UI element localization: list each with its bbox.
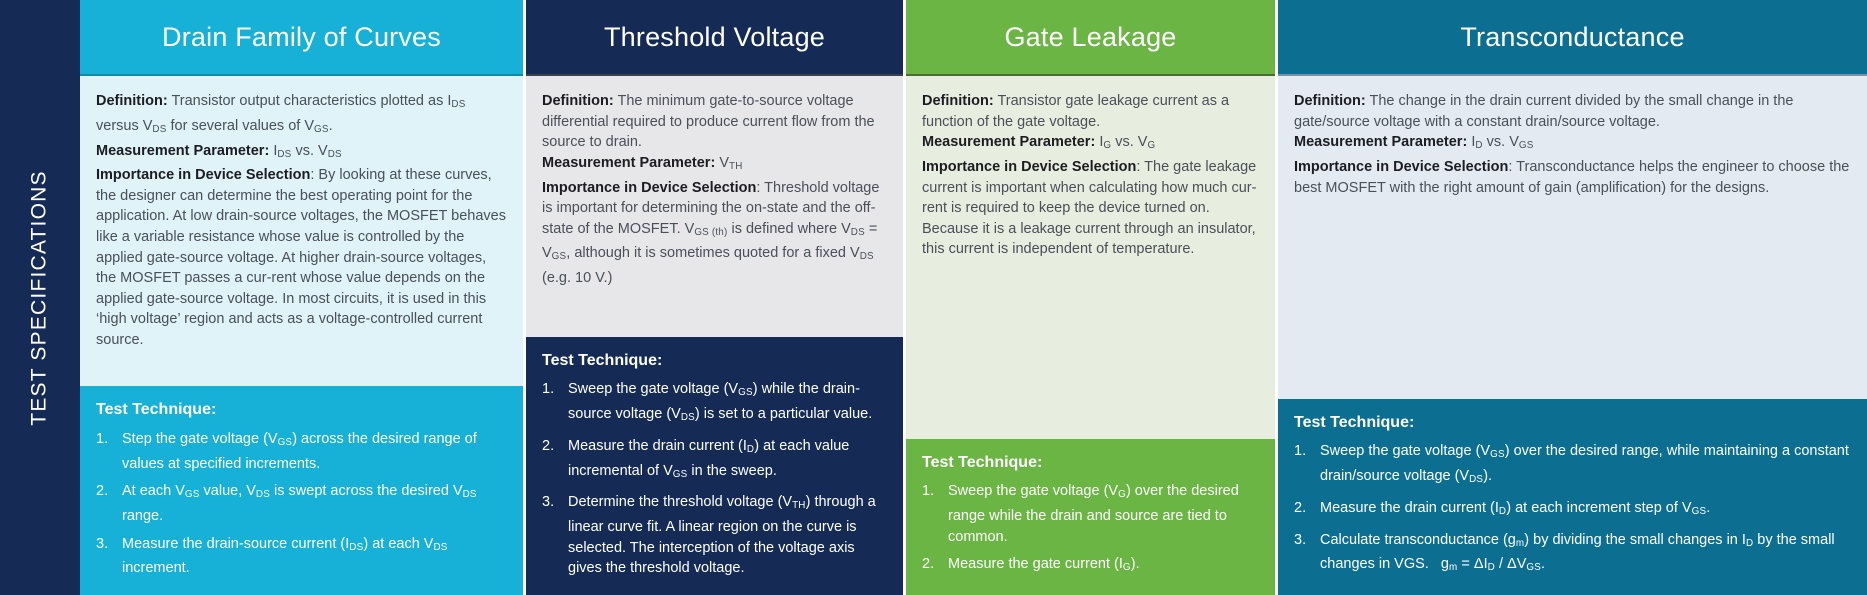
measurement-label-2: Measurement Parameter: — [542, 155, 715, 171]
importance-paragraph-3: Importance in Device Selection: The gate… — [922, 157, 1259, 260]
definition-paragraph-2: Definition: The minimum gate-to-source v… — [542, 91, 887, 153]
step-text: Measure the drain current (ID) at each i… — [1320, 498, 1851, 523]
importance-paragraph-1: Importance in Device Selection: By looki… — [96, 165, 507, 350]
column-definition-3: Definition: Transistor gate leakage curr… — [906, 74, 1275, 272]
step-number: 1. — [1294, 441, 1320, 491]
technique-title-3: Test Technique: — [922, 453, 1259, 474]
step-number: 2. — [1294, 498, 1320, 523]
step-text: Measure the gate current (IG). — [948, 554, 1259, 579]
column-technique-4: Test Technique: 1. Sweep the gate voltag… — [1278, 399, 1867, 595]
definition-text-4: The change in the drain current divided … — [1294, 93, 1793, 130]
technique-title-2: Test Technique: — [542, 351, 887, 372]
test-specifications-table: TEST SPECIFICATIONS Drain Family of Curv… — [0, 0, 1867, 595]
measurement-label-1: Measurement Parameter: — [96, 143, 269, 159]
step-number: 2. — [542, 436, 568, 486]
column-definition-4: Definition: The change in the drain curr… — [1278, 74, 1867, 210]
column-definition-1: Definition: Transistor output characteri… — [80, 74, 523, 363]
column-definition-2: Definition: The minimum gate-to-source v… — [526, 74, 903, 301]
technique-step: 1. Sweep the gate voltage (VG) over the … — [922, 481, 1259, 547]
column-transconductance: Transconductance Definition: The change … — [1278, 0, 1867, 595]
columns-container: Drain Family of Curves Definition: Trans… — [80, 0, 1867, 595]
step-text: Sweep the gate voltage (VG) over the des… — [948, 481, 1259, 547]
technique-list-3: 1. Sweep the gate voltage (VG) over the … — [922, 481, 1259, 579]
column-title-4: Transconductance — [1278, 0, 1867, 74]
column-technique-1: Test Technique: 1. Step the gate voltage… — [80, 386, 523, 595]
definition-label-1: Definition: — [96, 93, 168, 109]
technique-step: 1. Step the gate voltage (VGS) across th… — [96, 429, 507, 474]
technique-step: 2. Measure the drain current (ID) at eac… — [1294, 498, 1851, 523]
definition-label-4: Definition: — [1294, 93, 1366, 109]
measurement-paragraph-1: Measurement Parameter: IDS vs. VDS — [96, 141, 507, 166]
importance-paragraph-2: Importance in Device Selection: Threshol… — [542, 178, 887, 289]
technique-step: 1. Sweep the gate voltage (VGS) while th… — [542, 379, 887, 429]
column-spacer-2 — [526, 301, 903, 337]
technique-step: 2. Measure the gate current (IG). — [922, 554, 1259, 579]
step-text: Step the gate voltage (VGS) across the d… — [122, 429, 507, 474]
importance-label-4: Importance in Device Selection — [1294, 159, 1508, 175]
column-spacer-1 — [80, 363, 523, 387]
step-number: 3. — [96, 534, 122, 579]
step-text: At each VGS value, VDS is swept across t… — [122, 481, 507, 526]
importance-label-3: Importance in Device Selection — [922, 159, 1136, 175]
measurement-paragraph-4: Measurement Parameter: ID vs. VGS — [1294, 132, 1851, 157]
technique-title-1: Test Technique: — [96, 400, 507, 421]
column-spacer-3 — [906, 272, 1275, 439]
technique-step: 3. Measure the drain-source current (IDS… — [96, 534, 507, 579]
technique-step: 2. At each VGS value, VDS is swept acros… — [96, 481, 507, 526]
step-number: 1. — [96, 429, 122, 474]
step-number: 3. — [1294, 530, 1320, 580]
sidebar-vertical-label: TEST SPECIFICATIONS — [28, 170, 52, 425]
step-text: Determine the threshold voltage (VTH) th… — [568, 492, 887, 579]
technique-step: 1. Sweep the gate voltage (VGS) over the… — [1294, 441, 1851, 491]
measurement-value-2: VTH — [719, 155, 742, 171]
column-spacer-4 — [1278, 210, 1867, 399]
definition-paragraph-4: Definition: The change in the drain curr… — [1294, 91, 1851, 132]
measurement-paragraph-2: Measurement Parameter: VTH — [542, 153, 887, 178]
column-technique-3: Test Technique: 1. Sweep the gate voltag… — [906, 439, 1275, 595]
column-title-1: Drain Family of Curves — [80, 0, 523, 74]
definition-paragraph-3: Definition: Transistor gate leakage curr… — [922, 91, 1259, 132]
technique-title-4: Test Technique: — [1294, 413, 1851, 434]
step-text: Measure the drain current (ID) at each v… — [568, 436, 887, 486]
importance-text-1: By looking at these curves, the designer… — [96, 167, 506, 348]
measurement-paragraph-3: Measurement Parameter: IG vs. VG — [922, 132, 1259, 157]
step-text: Calculate transconductance (gm) by divid… — [1320, 530, 1851, 580]
technique-list-4: 1. Sweep the gate voltage (VGS) over the… — [1294, 441, 1851, 579]
column-gate-leakage: Gate Leakage Definition: Transistor gate… — [906, 0, 1278, 595]
step-number: 2. — [922, 554, 948, 579]
importance-label-2: Importance in Device Selection — [542, 180, 756, 196]
technique-list-2: 1. Sweep the gate voltage (VGS) while th… — [542, 379, 887, 579]
column-title-2: Threshold Voltage — [526, 0, 903, 74]
column-title-3: Gate Leakage — [906, 0, 1275, 74]
definition-label-3: Definition: — [922, 93, 994, 109]
technique-step: 3. Calculate transconductance (gm) by di… — [1294, 530, 1851, 580]
measurement-value-1: IDS vs. VDS — [273, 143, 341, 159]
measurement-label-4: Measurement Parameter: — [1294, 134, 1467, 150]
measurement-label-3: Measurement Parameter: — [922, 134, 1095, 150]
technique-list-1: 1. Step the gate voltage (VGS) across th… — [96, 429, 507, 579]
measurement-value-3: IG vs. VG — [1099, 134, 1155, 150]
step-number: 1. — [542, 379, 568, 429]
step-text: Measure the drain-source current (IDS) a… — [122, 534, 507, 579]
technique-step: 2. Measure the drain current (ID) at eac… — [542, 436, 887, 486]
importance-paragraph-4: Importance in Device Selection: Transcon… — [1294, 157, 1851, 198]
step-number: 1. — [922, 481, 948, 547]
step-text: Sweep the gate voltage (VGS) over the de… — [1320, 441, 1851, 491]
step-number: 3. — [542, 492, 568, 579]
column-drain-family-of-curves: Drain Family of Curves Definition: Trans… — [80, 0, 526, 595]
importance-label-1: Importance in Device Selection — [96, 167, 310, 183]
technique-step: 3. Determine the threshold voltage (VTH)… — [542, 492, 887, 579]
column-threshold-voltage: Threshold Voltage Definition: The minimu… — [526, 0, 906, 595]
measurement-value-4: ID vs. VGS — [1471, 134, 1533, 150]
step-number: 2. — [96, 481, 122, 526]
step-text: Sweep the gate voltage (VGS) while the d… — [568, 379, 887, 429]
sidebar-rail: TEST SPECIFICATIONS — [0, 0, 80, 595]
column-technique-2: Test Technique: 1. Sweep the gate voltag… — [526, 337, 903, 595]
definition-label-2: Definition: — [542, 93, 614, 109]
definition-paragraph-1: Definition: Transistor output characteri… — [96, 91, 507, 141]
